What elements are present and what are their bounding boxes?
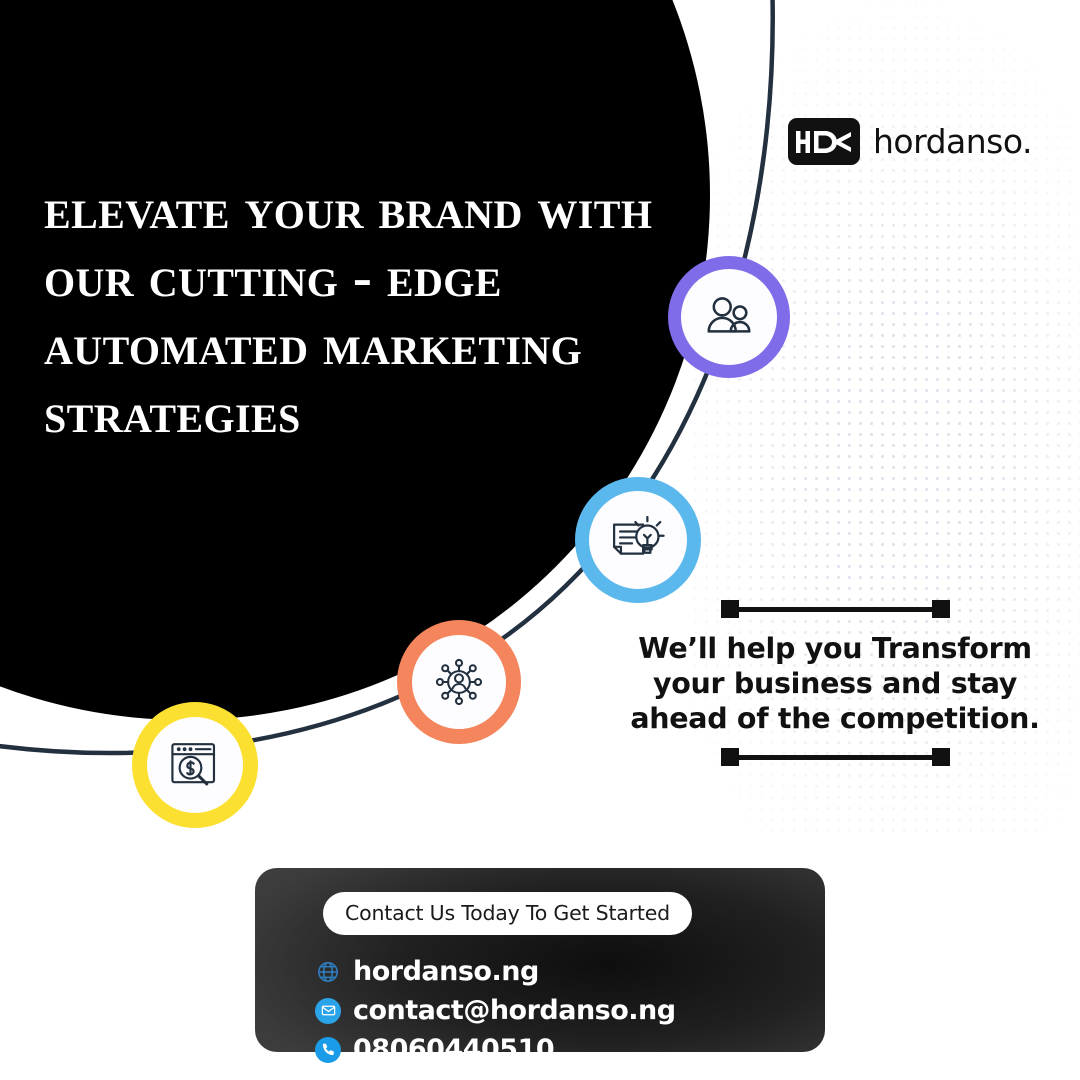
hds-monogram-icon xyxy=(788,118,860,165)
search-revenue-icon xyxy=(166,737,224,793)
poster-canvas: Elevate your brand with our cutting - ed… xyxy=(0,0,1080,1080)
rule-cap-right xyxy=(932,600,950,618)
tagline-line-3: ahead of the competition. xyxy=(630,701,1040,736)
envelope-icon xyxy=(315,998,341,1024)
feature-bubble-users[interactable] xyxy=(668,256,790,378)
rule-cap-left xyxy=(721,600,739,618)
tagline-line-2: your business and stay xyxy=(630,666,1040,701)
tagline-line-1: We’ll help you Transform xyxy=(630,631,1040,666)
users-icon xyxy=(702,290,756,344)
contact-row-email[interactable]: contact@hordanso.ng xyxy=(315,991,676,1030)
phone-value: 08060440510 xyxy=(353,1034,554,1065)
tagline-text: We’ll help you Transform your business a… xyxy=(630,631,1040,736)
contact-row-phone[interactable]: 08060440510 xyxy=(315,1030,676,1069)
website-value: hordanso.ng xyxy=(353,956,539,987)
tagline-rule-bottom xyxy=(630,748,1040,766)
brand-wordmark: hordanso. xyxy=(873,122,1032,161)
page-title: Elevate your brand with our cutting - ed… xyxy=(44,176,694,448)
feature-bubble-network[interactable] xyxy=(397,620,521,744)
network-user-icon xyxy=(430,653,488,711)
idea-document-icon xyxy=(609,512,667,568)
rule-line xyxy=(739,755,932,760)
globe-icon xyxy=(315,959,341,985)
rule-cap-right xyxy=(932,748,950,766)
email-value: contact@hordanso.ng xyxy=(353,995,676,1026)
feature-bubble-analytics[interactable] xyxy=(132,702,258,828)
rule-line xyxy=(739,607,932,612)
feature-bubble-strategy[interactable] xyxy=(575,477,701,603)
contact-list: hordanso.ng contact@hordanso.ng 080 xyxy=(315,952,676,1069)
tagline-rule-top xyxy=(630,600,1040,618)
brand-logo: hordanso. xyxy=(788,118,1032,165)
tagline-block: We’ll help you Transform your business a… xyxy=(630,600,1040,766)
rule-cap-left xyxy=(721,748,739,766)
phone-icon xyxy=(315,1037,341,1063)
cta-badge[interactable]: Contact Us Today To Get Started xyxy=(323,892,692,935)
contact-card: Contact Us Today To Get Started hordanso… xyxy=(255,868,825,1052)
contact-row-website[interactable]: hordanso.ng xyxy=(315,952,676,991)
